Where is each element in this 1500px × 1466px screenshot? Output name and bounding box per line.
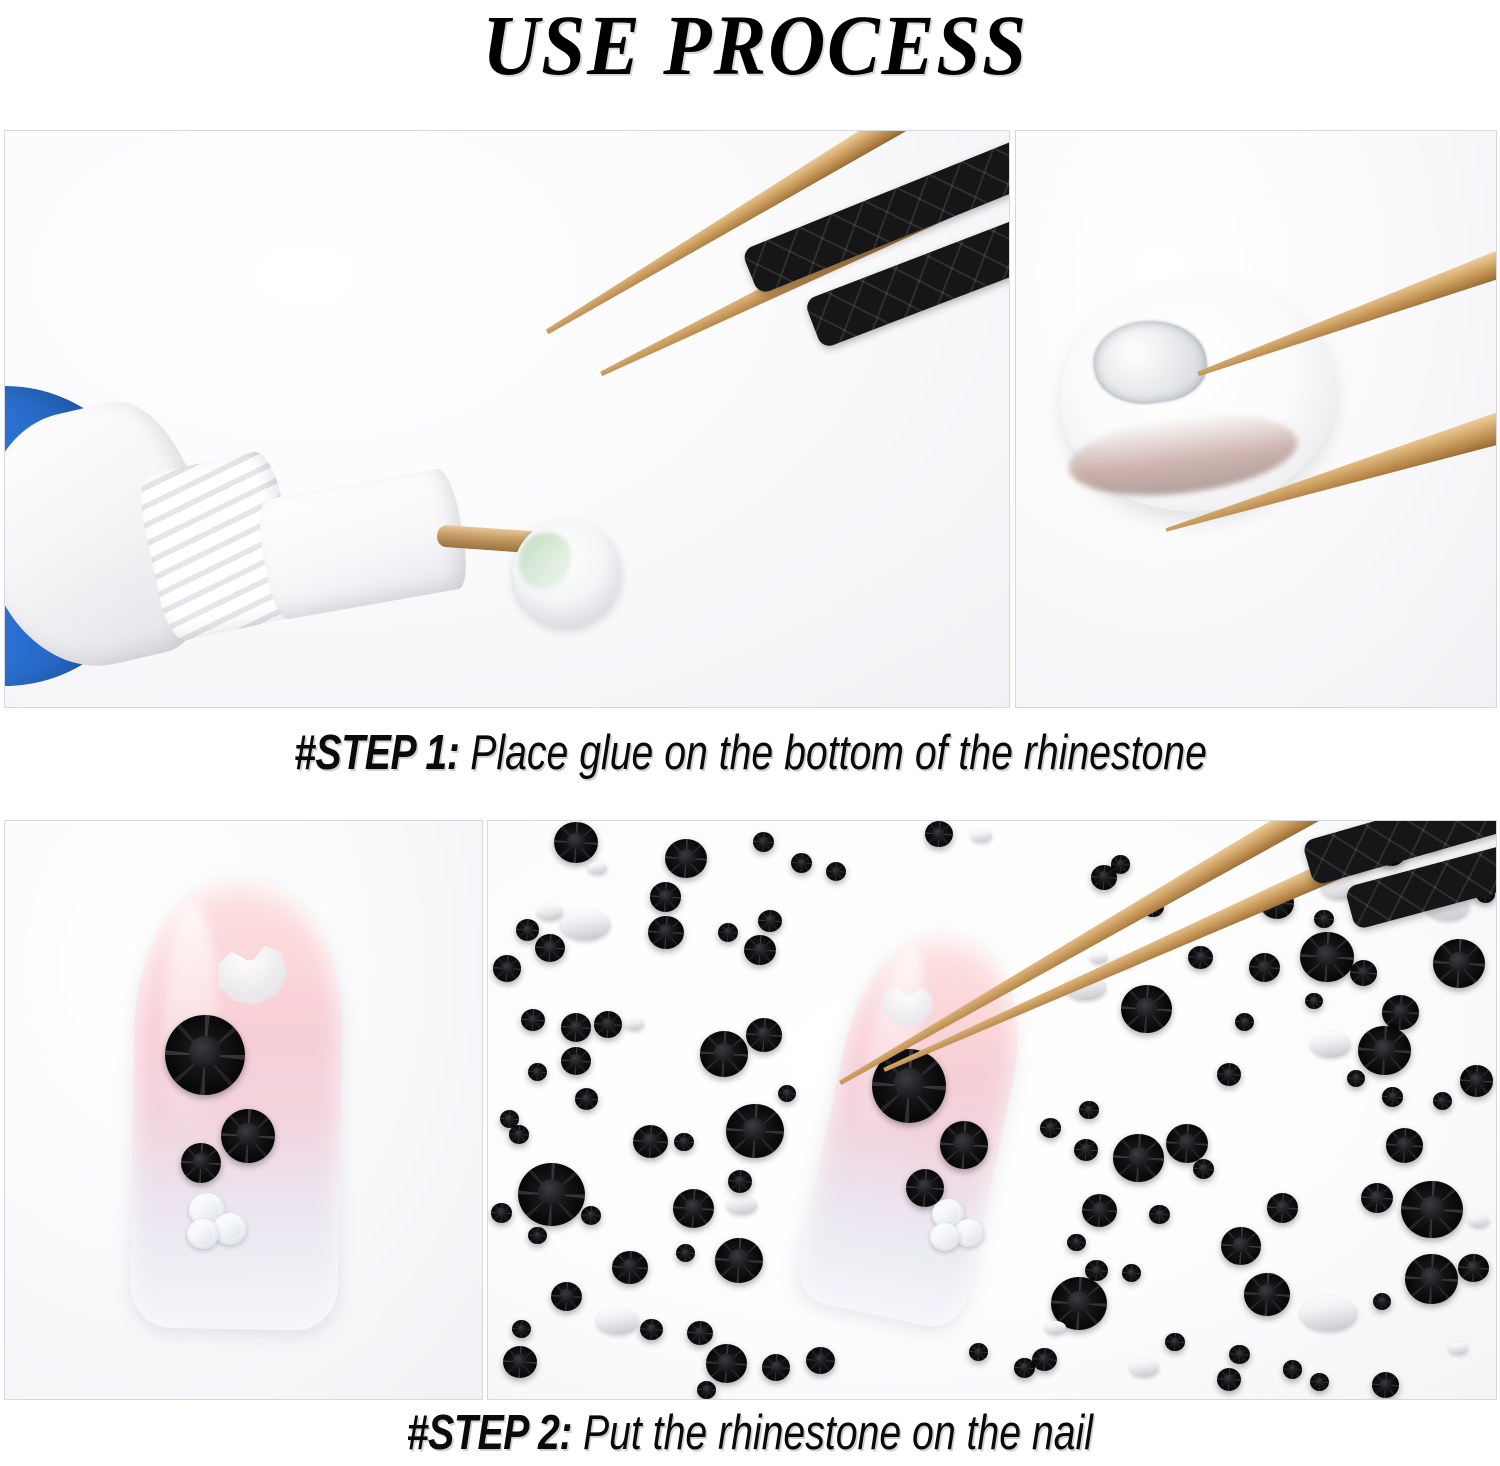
black-rhinestone-icon [1305, 993, 1323, 1010]
black-rhinestone-icon [1433, 939, 1485, 988]
black-rhinestone-icon [758, 910, 782, 932]
black-rhinestone-icon [791, 853, 812, 873]
black-rhinestone-icon [718, 923, 739, 942]
rhinestone-foil-back-icon [1301, 1296, 1357, 1331]
rhinestone-foil-back-icon [597, 1308, 639, 1334]
step-2-text: Put the rhinestone on the nail [572, 1406, 1093, 1460]
black-rhinestone-medium-icon [940, 1121, 988, 1169]
black-rhinestone-icon [1165, 1333, 1184, 1351]
rhinestone-foil-back-icon [1311, 1032, 1351, 1057]
step-2-caption: #STEP 2: Put the rhinestone on the nail [0, 1409, 1500, 1458]
black-rhinestone-icon [1361, 1183, 1393, 1213]
black-rhinestone-icon [706, 1344, 747, 1382]
rhinestone-foil-back-icon [625, 1018, 644, 1030]
rhinestone-foil-back-icon [1045, 1321, 1066, 1334]
clear-rhinestone-icon [513, 519, 621, 627]
black-rhinestone-icon [1382, 995, 1419, 1030]
black-rhinestone-icon [778, 1085, 796, 1102]
black-rhinestone-icon [491, 1203, 512, 1222]
black-rhinestone-icon [493, 955, 521, 981]
black-rhinestone-icon [612, 1251, 647, 1284]
step-2-label: #STEP 2: [407, 1406, 572, 1460]
black-rhinestone-icon [673, 1189, 715, 1228]
black-rhinestone-icon [516, 919, 539, 940]
step1-panel-left [4, 130, 1010, 708]
black-rhinestone-icon [700, 1031, 749, 1077]
black-rhinestone-icon [1217, 1368, 1242, 1391]
black-rhinestone-icon [554, 822, 598, 863]
black-rhinestone-icon [561, 1047, 592, 1076]
black-rhinestone-icon [1386, 1128, 1423, 1163]
decorated-nail-icon [129, 875, 345, 1331]
black-rhinestone-icon [1235, 1013, 1254, 1031]
black-rhinestone-icon [826, 862, 846, 881]
black-rhinestone-icon [633, 1125, 668, 1158]
black-rhinestone-icon [1032, 1348, 1057, 1371]
black-rhinestone-icon [1067, 1234, 1086, 1252]
black-rhinestone-icon [1217, 1063, 1241, 1086]
black-rhinestone-icon [1347, 1070, 1365, 1087]
black-rhinestone-icon [528, 1063, 547, 1081]
black-rhinestone-icon [1314, 910, 1334, 928]
rhinestone-foil-back-icon [727, 1196, 757, 1214]
black-rhinestone-icon [1122, 1264, 1141, 1282]
black-rhinestone-icon [561, 1013, 591, 1042]
black-rhinestone-icon [806, 1347, 835, 1374]
black-rhinestone-icon [1382, 1087, 1403, 1106]
black-rhinestone-icon [1229, 1345, 1249, 1364]
black-rhinestone-icon [1350, 960, 1377, 986]
clear-crystal-c-icon [930, 1223, 960, 1251]
black-rhinestone-icon [925, 821, 953, 847]
rhinestone-foil-back-icon [561, 909, 610, 940]
black-rhinestone-icon [665, 839, 707, 878]
black-rhinestone-icon [674, 1133, 694, 1152]
black-rhinestone-icon [1401, 1181, 1462, 1239]
black-rhinestone-icon [676, 1244, 696, 1262]
rhinestone-foil-back-icon [588, 862, 607, 874]
black-rhinestone-icon [1310, 1373, 1329, 1391]
black-rhinestone-icon [1405, 1254, 1458, 1303]
black-rhinestone-icon [1244, 1273, 1290, 1316]
step-1-text: Place glue on the bottom of the rhinesto… [459, 726, 1206, 780]
black-rhinestone-icon [715, 1238, 763, 1283]
black-rhinestone-icon [594, 1011, 623, 1038]
black-rhinestone-icon [1373, 1293, 1391, 1310]
black-rhinestone-icon [1358, 1026, 1411, 1075]
black-rhinestone-icon [509, 1125, 529, 1143]
black-rhinestone-icon [1267, 1193, 1299, 1223]
black-rhinestone-icon [503, 1346, 537, 1378]
black-rhinestone-icon [1283, 1360, 1302, 1378]
clear-crystal-c-icon [187, 1219, 219, 1249]
black-rhinestone-icon [1193, 1159, 1215, 1179]
black-rhinestone-icon [744, 935, 776, 965]
black-rhinestone-icon [535, 934, 565, 962]
black-rhinestone-icon [1113, 1134, 1163, 1181]
rhinestone-foil-back-icon [537, 904, 563, 920]
black-rhinestone-icon [1188, 946, 1213, 969]
page-title: USE PROCESS [483, 2, 1029, 88]
step1-panel-right [1015, 130, 1497, 708]
rhinestone-foil-back-icon [1469, 1214, 1490, 1227]
header: USE PROCESS [0, 0, 1500, 130]
black-rhinestone-icon [728, 1170, 752, 1193]
step2-panel-left [4, 820, 483, 1400]
black-rhinestone-icon [753, 832, 774, 852]
black-rhinestone-icon [726, 1104, 784, 1158]
black-rhinestone-icon [518, 1163, 586, 1227]
black-rhinestone-icon [1300, 932, 1353, 982]
step2-panel-right [487, 820, 1497, 1400]
black-rhinestone-icon [1149, 1205, 1169, 1224]
rhinestone-foil-back-icon [1090, 952, 1108, 963]
rhinestone-foil-back-icon [1449, 1342, 1468, 1354]
black-rhinestone-icon [581, 1206, 601, 1225]
step-1-label: #STEP 1: [294, 726, 459, 780]
black-rhinestone-icon [1433, 1092, 1452, 1110]
black-rhinestone-icon [969, 1343, 989, 1361]
black-rhinestone-icon [1166, 1124, 1207, 1163]
black-rhinestone-icon [575, 1088, 598, 1110]
black-rhinestone-icon [687, 1321, 713, 1346]
black-rhinestone-icon [650, 882, 681, 911]
black-rhinestone-icon [1460, 1065, 1494, 1097]
black-rhinestone-icon [512, 1320, 531, 1338]
black-rhinestone-icon [1121, 985, 1172, 1033]
black-rhinestone-icon [1458, 1254, 1488, 1283]
black-rhinestone-icon [1111, 855, 1130, 873]
black-rhinestone-large-icon [165, 1015, 245, 1095]
black-rhinestone-icon [697, 1381, 716, 1399]
black-rhinestone-icon [762, 1354, 790, 1381]
step-1-image-row [4, 130, 1497, 708]
black-rhinestone-icon [1372, 1372, 1399, 1398]
black-rhinestone-medium-icon [221, 1109, 275, 1163]
black-rhinestone-icon [1221, 1227, 1261, 1264]
rhinestone-foil-back-icon [971, 829, 992, 842]
black-rhinestone-icon [521, 1009, 545, 1032]
black-rhinestone-icon [1079, 1101, 1099, 1119]
black-rhinestone-icon [528, 1227, 546, 1244]
black-rhinestone-small-icon [181, 1143, 221, 1183]
black-rhinestone-icon [1040, 1118, 1061, 1138]
black-rhinestone-icon [640, 1319, 663, 1340]
black-rhinestone-icon [551, 1282, 582, 1311]
black-rhinestone-icon [1082, 1194, 1117, 1227]
step-1-caption: #STEP 1: Place glue on the bottom of the… [0, 729, 1500, 778]
rhinestone-foil-back-icon [1130, 1359, 1158, 1376]
black-rhinestone-icon [746, 1018, 782, 1051]
step-2-image-row [4, 820, 1497, 1400]
black-rhinestone-icon [1249, 953, 1280, 982]
black-rhinestone-icon [648, 916, 684, 950]
black-rhinestone-icon [1074, 1139, 1097, 1161]
